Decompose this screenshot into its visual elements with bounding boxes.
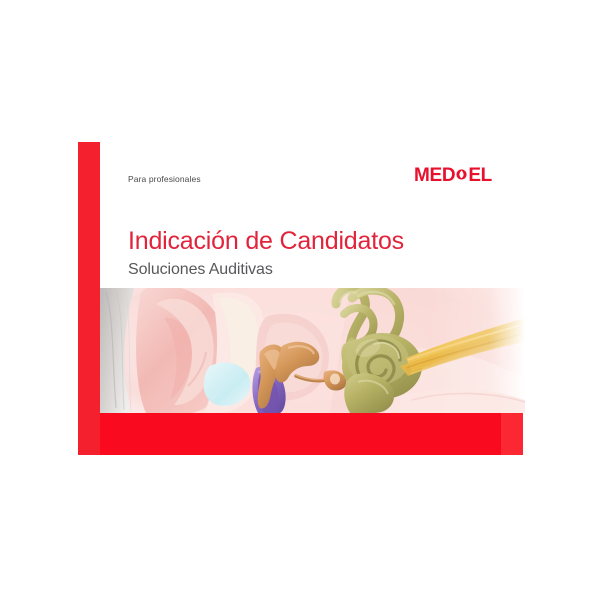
cover-title: Indicación de Candidatos	[128, 227, 404, 256]
medel-logo: MED EL	[414, 166, 492, 185]
brochure-cover: Para profesionales MED EL Indicación de …	[78, 142, 525, 455]
medel-dot-icon	[456, 169, 467, 180]
kicker-text: Para profesionales	[128, 174, 201, 184]
page-canvas: Para profesionales MED EL Indicación de …	[0, 0, 600, 600]
cover-subtitle: Soluciones Auditivas	[128, 261, 273, 279]
logo-text-med: MED	[414, 166, 455, 185]
cover-bottom-red-bar-inner	[100, 413, 501, 455]
ear-anatomy-illustration	[100, 288, 525, 413]
cover-left-red-bar	[78, 142, 100, 455]
logo-text-el: EL	[468, 166, 492, 185]
cover-bottom-red-bar	[78, 413, 523, 455]
cover-bottom-red-bar-tip	[501, 413, 523, 455]
